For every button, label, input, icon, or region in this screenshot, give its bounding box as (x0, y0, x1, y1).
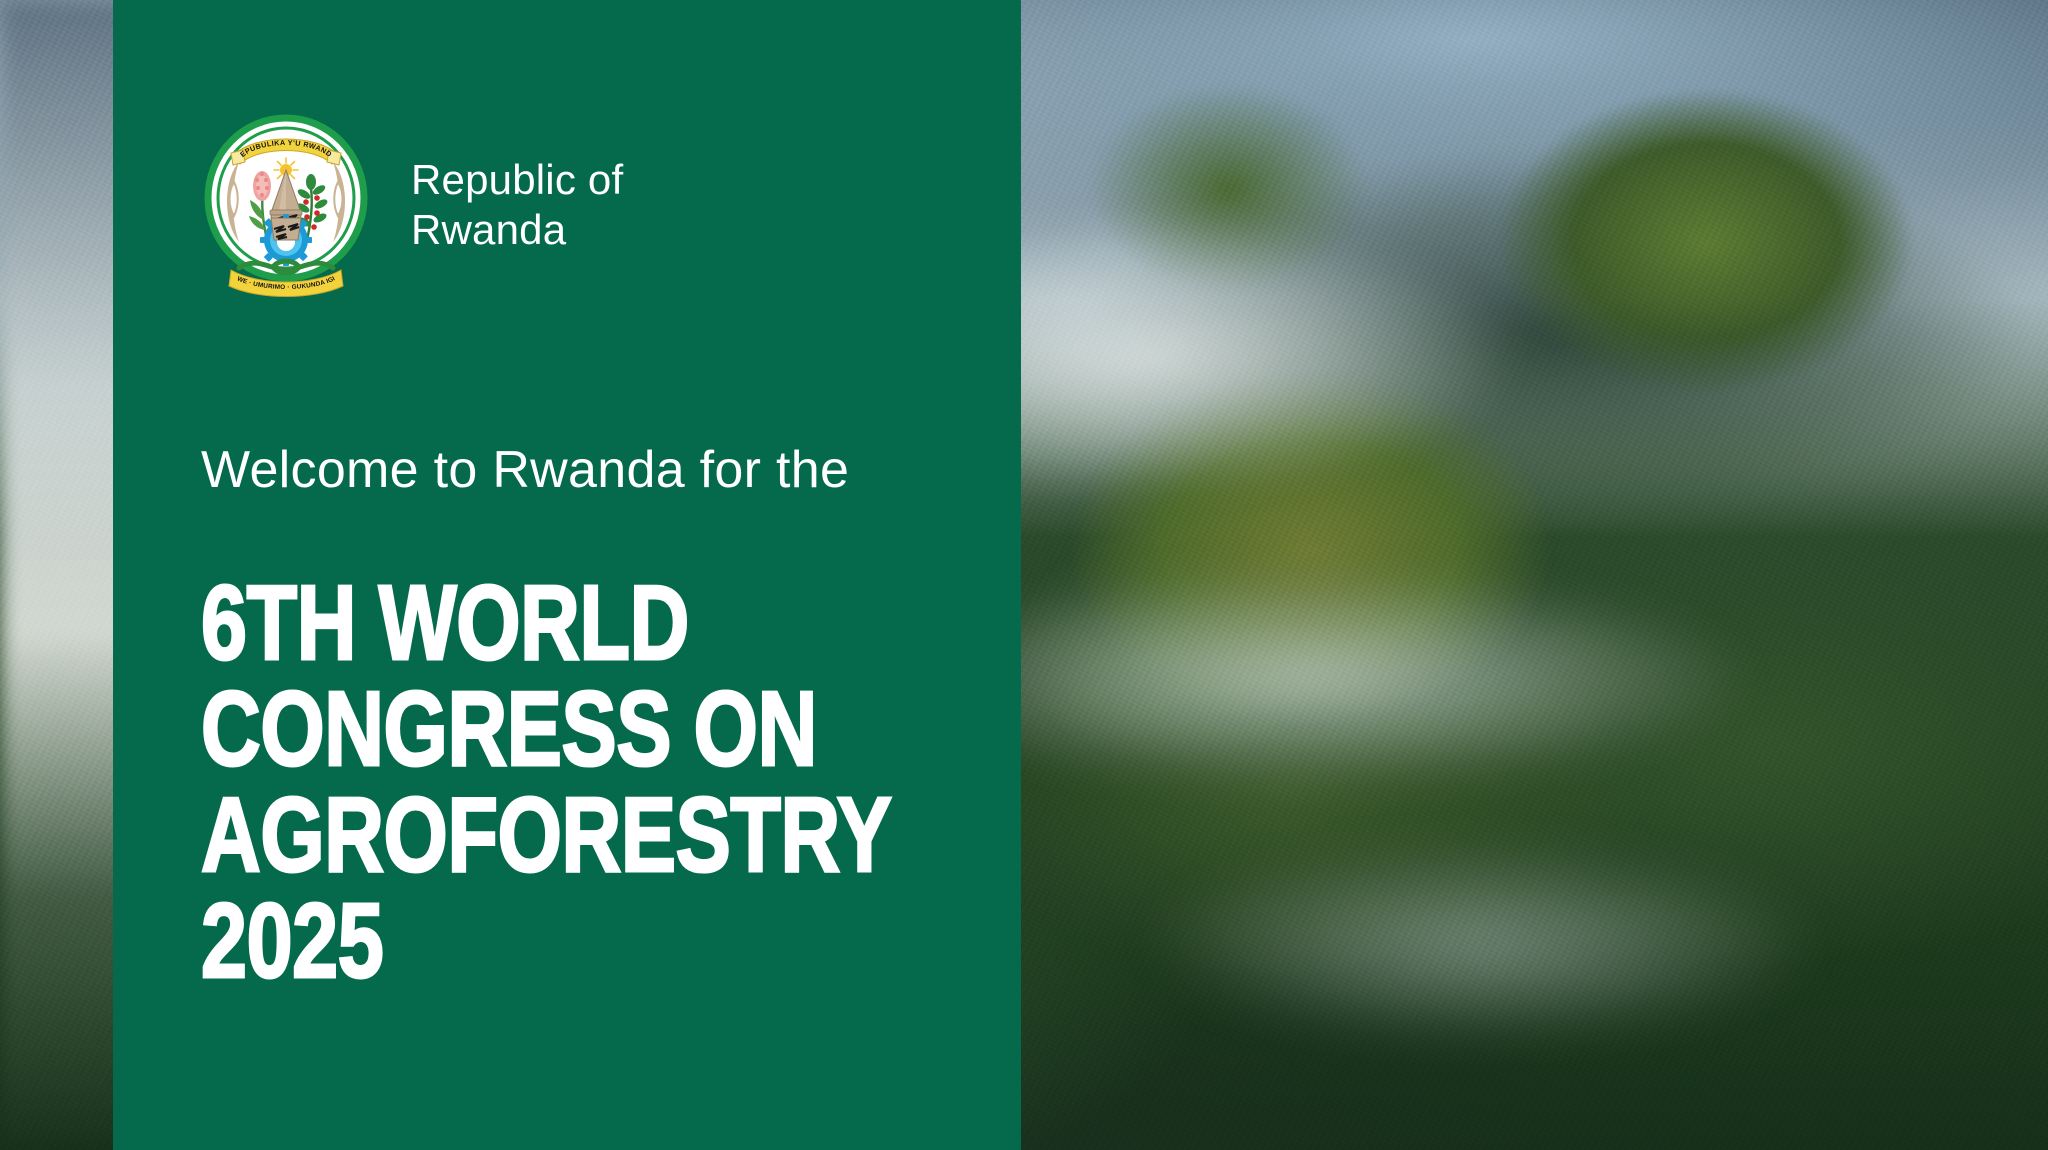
rwanda-coat-of-arms-icon: REPUBULIKA Y'U RWANDA (201, 110, 371, 300)
green-content-panel: REPUBULIKA Y'U RWANDA (113, 0, 1021, 1150)
title-line-3: AGROFORESTRY (201, 782, 841, 888)
welcome-slide: REPUBULIKA Y'U RWANDA (0, 0, 2048, 1150)
brand-lockup: REPUBULIKA Y'U RWANDA (201, 110, 1021, 300)
title-line-4: 2025 (201, 888, 841, 994)
title-line-1: 6TH WORLD (201, 570, 841, 676)
congress-title: 6TH WORLD CONGRESS ON AGROFORESTRY 2025 (201, 570, 841, 994)
cog-wheel-icon (260, 214, 312, 266)
republic-of-rwanda-label: Republic of Rwanda (411, 155, 623, 254)
title-line-2: CONGRESS ON (201, 676, 841, 782)
welcome-kicker-text: Welcome to Rwanda for the (201, 440, 1021, 500)
